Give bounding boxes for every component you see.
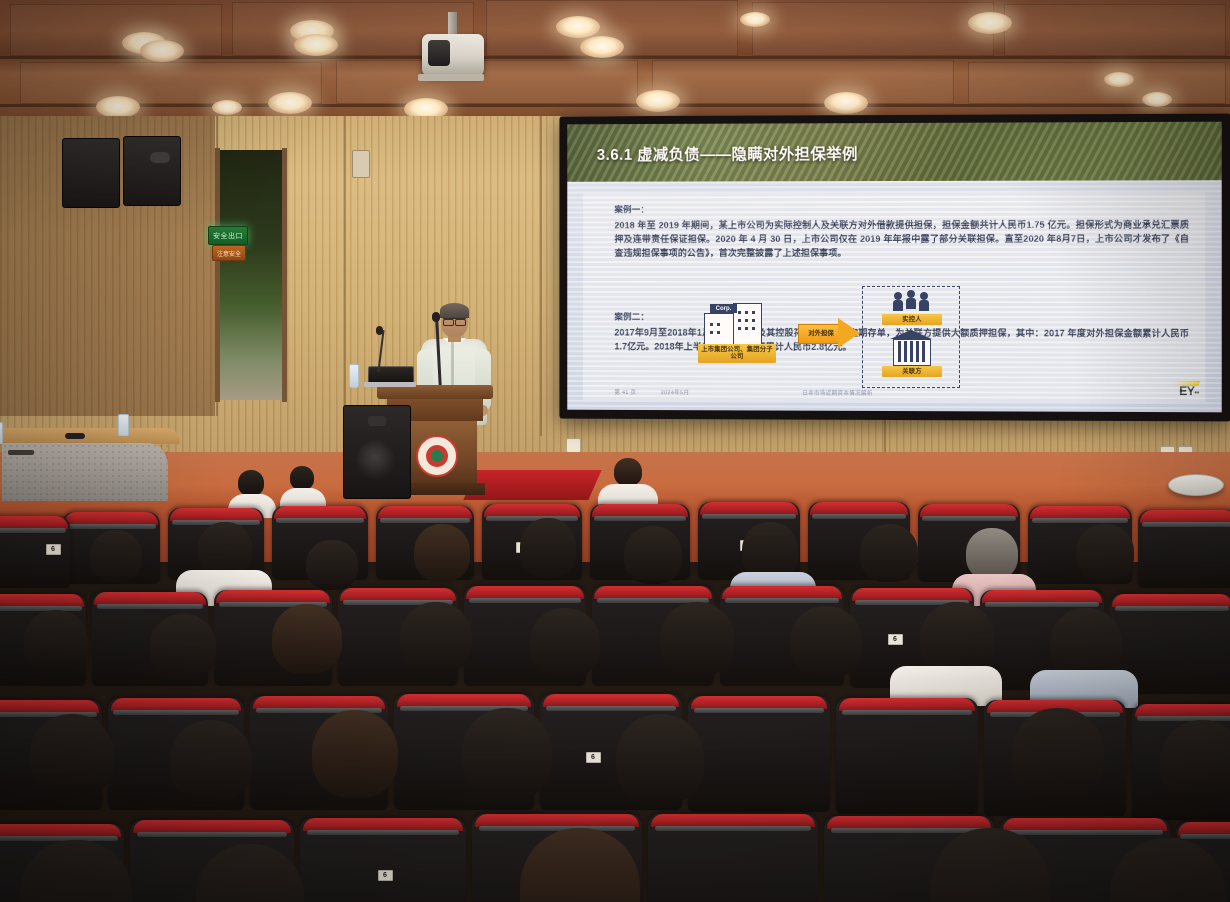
emergency-exit-sign: 安全出口 [208,226,248,245]
controlling-persons-icon [894,292,928,312]
ceiling-downlight [1104,72,1134,87]
slide-footer-page: 第 41 页 [614,388,636,396]
theater-seat [1138,510,1230,588]
slide-footer-date: 2024年5月 [661,388,689,396]
related-party-label: 关联方 [882,366,942,377]
side-desk-microphone [65,433,85,439]
audience-head [530,608,600,678]
seat-number: 6 [888,634,903,645]
ceiling-downlight [96,96,140,118]
theater-seat [648,814,818,902]
seat-number: 6 [46,544,61,555]
case-one-label: 案例一： [614,203,649,215]
ceiling-downlight [1142,92,1172,107]
ceiling-downlight [294,34,338,56]
ceiling-downlight [580,36,624,58]
audience-head [1076,524,1134,582]
related-party-building-icon [890,330,932,364]
audience-head [1012,708,1104,802]
ey-logo: EY•• [1179,384,1199,398]
theater-seat [300,818,466,902]
audience-seating: 6 5 8 7 6 [0,452,1230,902]
ceiling [0,0,1230,118]
audience-head [90,530,142,582]
projector-plate [418,74,484,81]
ceiling-downlight [740,12,770,27]
water-bottle-podium [349,364,359,388]
audience-head [966,528,1018,580]
audience-head [660,602,734,676]
audience-head [616,714,704,804]
ceiling-downlight [140,40,184,62]
doorway-left [219,150,283,400]
presenter-laptop [364,366,416,388]
podium-microphone-head [376,326,383,335]
ceiling-downlight [556,16,600,38]
security-camera [150,152,170,163]
wall-speaker-left [62,138,120,208]
lecture-hall-photo: 安全出口 注意安全 3.6.1 虚减负债——隐瞒对外担保举例 案例一： 2018… [0,0,1230,902]
safety-notice-sign: 注意安全 [212,245,246,261]
controlling-person-label: 实控人 [882,314,942,325]
ey-logo-dots: •• [1194,390,1199,397]
audience-head [920,602,994,676]
ceiling-downlight [268,92,312,114]
audience-head [170,720,252,802]
seat-number: 6 [586,752,601,763]
wall-control-box [352,150,370,178]
audience-head [272,604,342,674]
audience-head [624,526,682,584]
audience-head [150,614,216,680]
notice-sign-label: 注意安全 [217,249,241,258]
ceiling-downlight [212,100,242,115]
audience-head [312,710,398,798]
speaker-tweeter [368,416,386,426]
presenter-hair [440,303,469,318]
audience-head [306,540,358,590]
ceiling-downlight [636,90,680,112]
water-bottle-desk [0,422,3,444]
source-entity-label: 上市集团公司、集团分子公司 [698,344,776,363]
presenter-glasses [443,318,466,325]
guarantee-arrow-label: 对外担保 [801,328,841,337]
theater-seat [688,696,830,812]
projector-lens [428,40,450,66]
audience-head [860,524,918,582]
audience-head [520,518,576,578]
audience-head [1160,720,1230,806]
floor-microphone-head [432,312,440,322]
corp-badge: Corp. [710,304,737,313]
audience-head [24,610,88,674]
case-one-text: 2018 年至 2019 年期间，某上市公司为实际控制人及关联方对外借款提供担保… [614,219,1189,261]
audience-head [462,708,552,800]
ceiling-downlight [968,12,1012,34]
ceiling-downlight [824,92,868,114]
slide-footer-note: 日本市场近期资本情况解析 [802,389,872,397]
wall-outlet [566,438,581,453]
audience-head [614,458,642,486]
corporation-building-icon: Corp. [704,303,768,345]
audience-head [790,606,862,678]
audience-head [290,466,314,490]
guarantee-arrow: 对外担保 [798,318,860,348]
wall-speaker-right [123,136,181,206]
theater-seat [836,698,978,814]
seat-number: 6 [378,870,393,881]
audience-head [414,524,470,582]
audience-head [238,470,264,496]
water-bottle-desk [118,414,129,436]
ey-logo-text: EY [1179,384,1194,398]
case-two-label: 案例二： [614,311,649,323]
audience-head [198,522,252,576]
laptop-base [364,382,416,387]
ceiling-projector [408,12,486,80]
exit-sign-label: 安全出口 [213,231,243,241]
audience-head [30,714,114,798]
side-desk-top [0,428,180,444]
slide-title: 3.6.1 虚减负债——隐瞒对外担保举例 [597,142,858,165]
audience-head [400,602,472,674]
